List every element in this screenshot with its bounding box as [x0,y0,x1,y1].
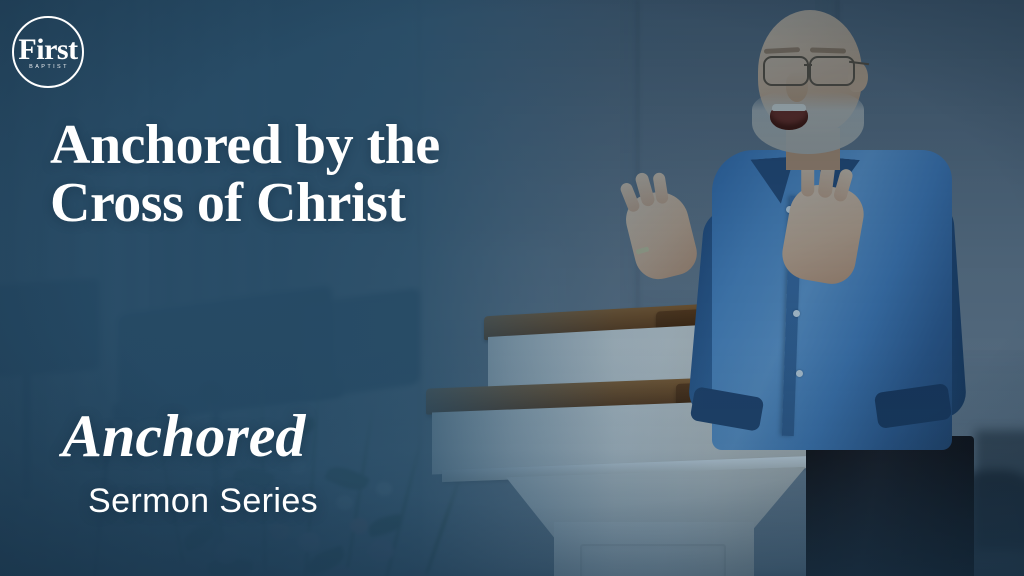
sermon-title-line-2: Cross of Christ [50,174,610,232]
sermon-title-card: First BAPTIST Anchored by the Cross of C… [0,0,1024,576]
series-label: Sermon Series [88,484,318,518]
logo-wordmark: First [18,36,77,63]
series-name: Anchored [62,406,305,466]
logo-subtext: BAPTIST [29,64,69,70]
first-baptist-logo[interactable]: First BAPTIST [12,16,84,88]
sermon-title-line-1: Anchored by the [50,116,610,174]
sermon-title: Anchored by the Cross of Christ [50,116,610,232]
